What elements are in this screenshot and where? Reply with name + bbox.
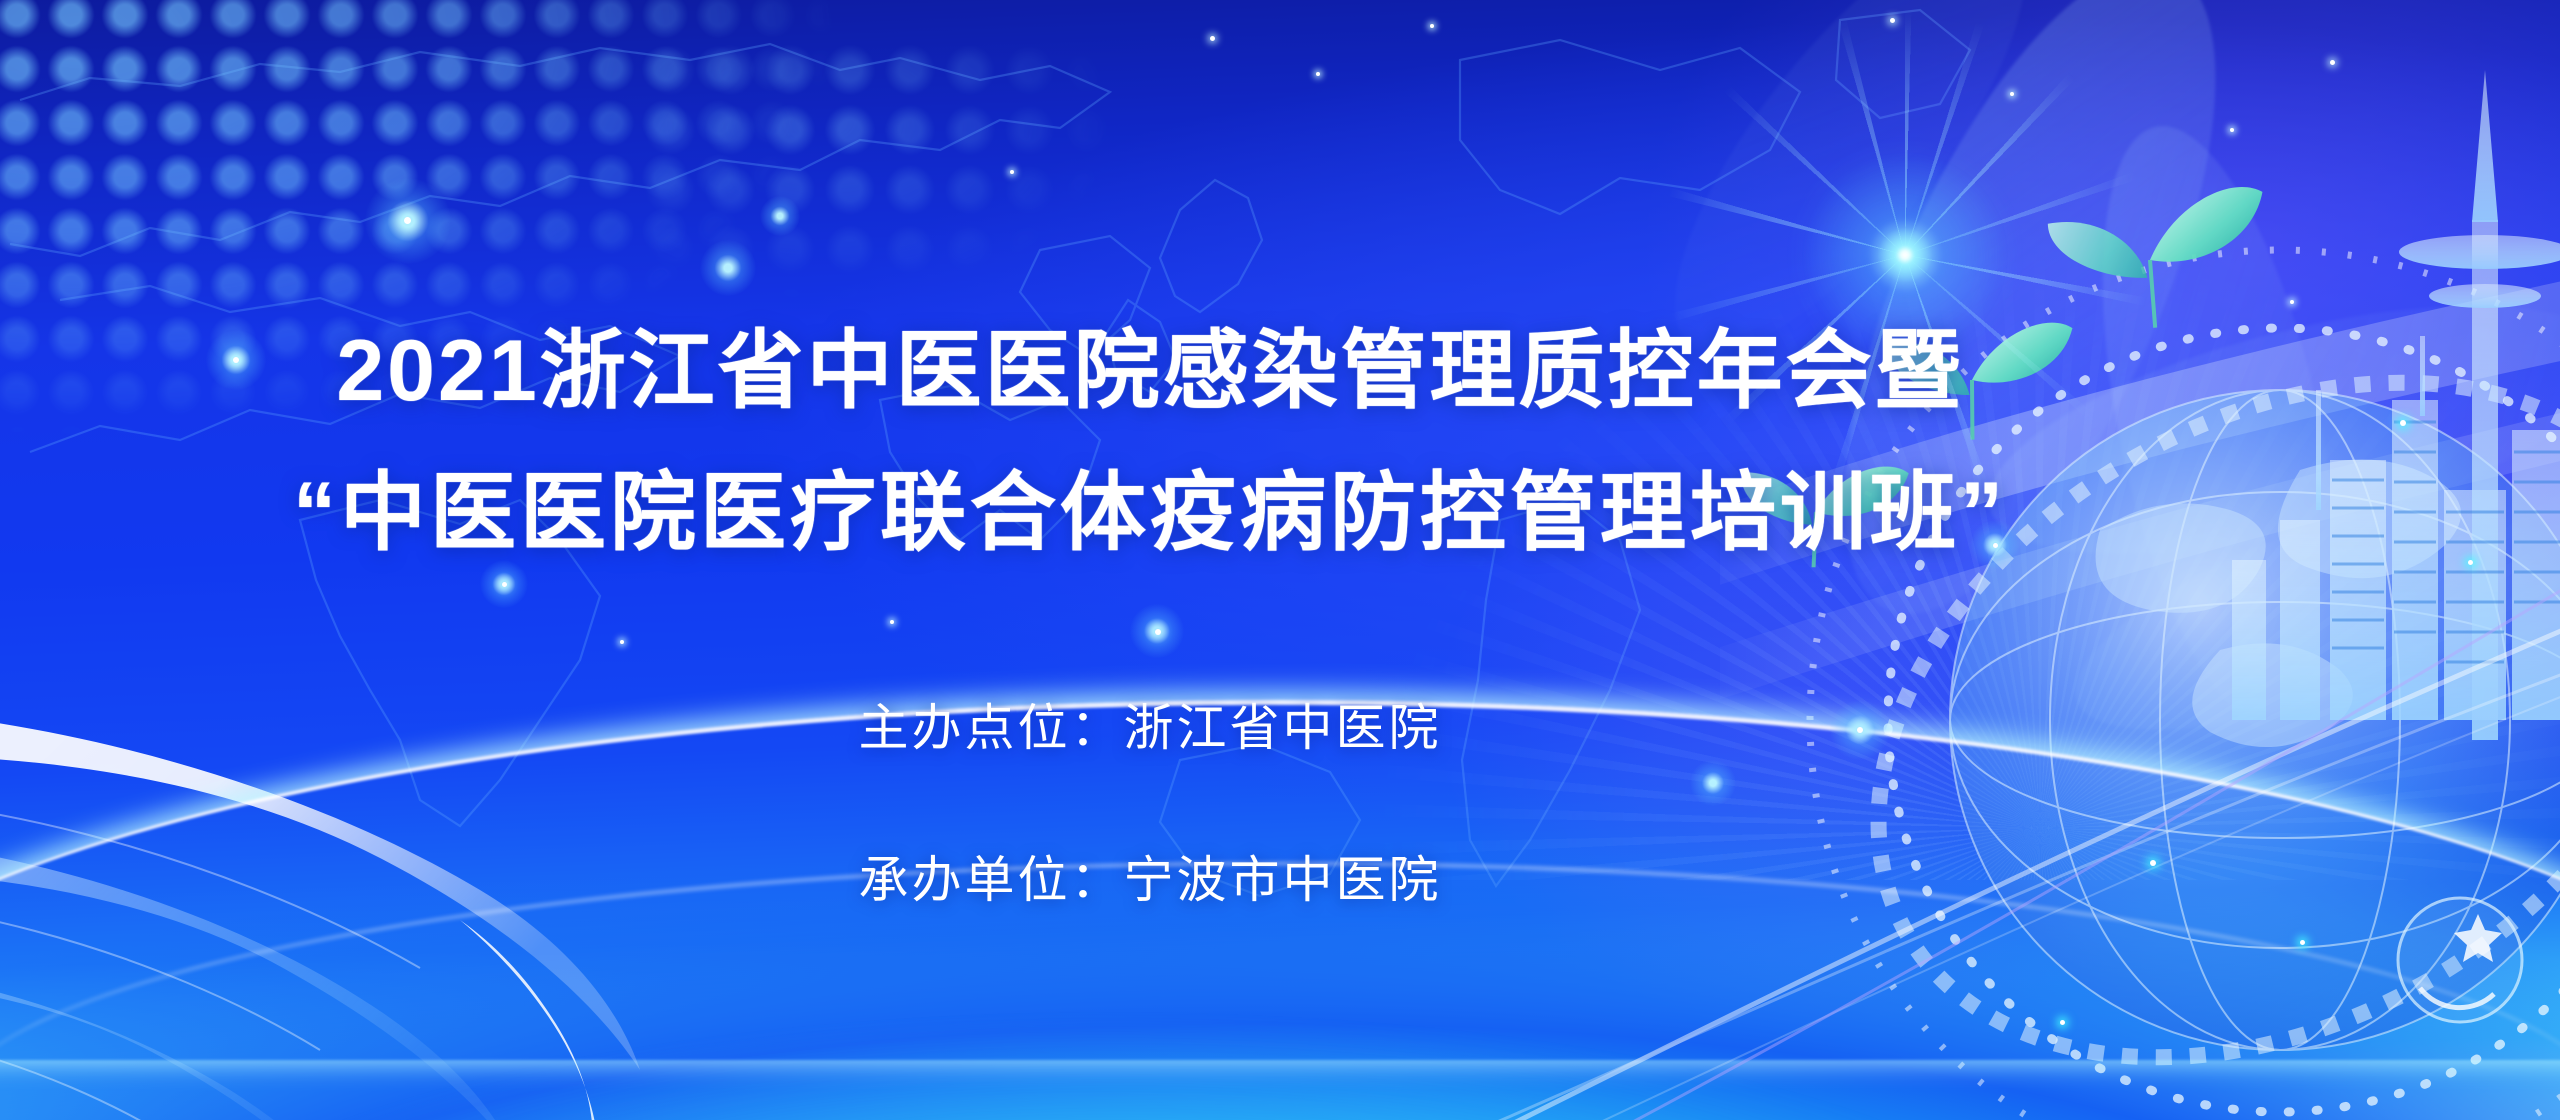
banner-organizer-line: 主办点位：浙江省中医院 bbox=[0, 688, 2300, 760]
banner-host-line: 承办单位：宁波市中医院 bbox=[0, 840, 2300, 912]
banner-title-line-1: 2021浙江省中医医院感染管理质控年会暨 bbox=[0, 328, 2300, 414]
banner-content: 2021浙江省中医医院感染管理质控年会暨 “中医医院医疗联合体疫病防控管理培训班… bbox=[0, 0, 2560, 1120]
conference-banner: 2021浙江省中医医院感染管理质控年会暨 “中医医院医疗联合体疫病防控管理培训班… bbox=[0, 0, 2560, 1120]
banner-title-line-2: “中医医院医疗联合体疫病防控管理培训班” bbox=[0, 470, 2300, 556]
